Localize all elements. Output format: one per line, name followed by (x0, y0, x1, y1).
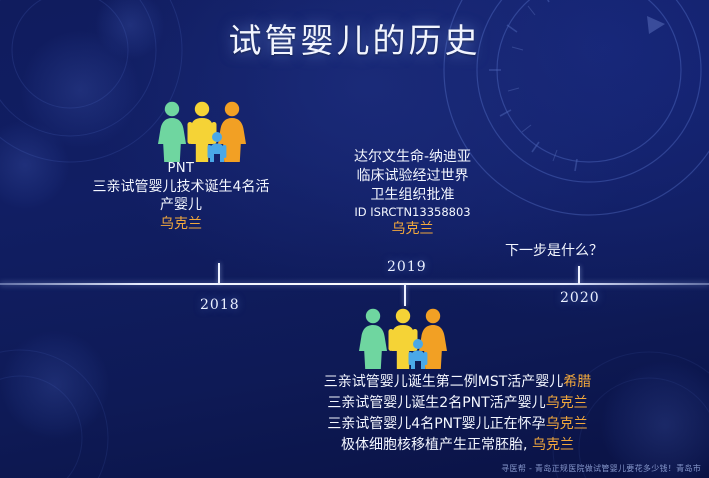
next-step-question: 下一步是什么？ (505, 242, 655, 261)
bottom-row-country: 乌克兰 (546, 416, 588, 432)
timeline-tick-2018 (218, 263, 220, 284)
left-block-country: 乌克兰 (86, 215, 276, 234)
middle-block-line3: 卫生组织批准 (330, 186, 495, 205)
bottom-row-country: 乌克兰 (532, 437, 574, 453)
bottom-row-text: 三亲试管婴儿诞生第二例MST活产婴儿 (324, 374, 564, 390)
family-group-bottom-icon (358, 307, 448, 374)
bottom-row: 三亲试管婴儿诞生第二例MST活产婴儿希腊 (285, 372, 630, 393)
bottom-row-text: 三亲试管婴儿4名PNT婴儿正在怀孕 (327, 416, 545, 432)
middle-block-line2: 临床试验经过世界 (330, 167, 495, 186)
family-group-top-icon (157, 100, 247, 167)
timeline-year-2018: 2018 (200, 297, 240, 313)
left-block-line2: 产婴儿 (86, 196, 276, 215)
middle-block-country: 乌克兰 (330, 220, 495, 239)
text-block-left: PNT 三亲试管婴儿技术诞生4名活 产婴儿 乌克兰 (86, 160, 276, 234)
page-title: 试管婴儿的历史 (0, 14, 709, 62)
decorative-arc-bottom-left (0, 338, 140, 478)
text-block-bottom: 三亲试管婴儿诞生第二例MST活产婴儿希腊 三亲试管婴儿诞生2名PNT活产婴儿乌克… (285, 372, 630, 456)
bokeh-circle (0, 120, 70, 210)
text-block-right: 下一步是什么？ (505, 242, 655, 261)
female-green-icon (359, 309, 387, 369)
bottom-row-text: 三亲试管婴儿诞生2名PNT活产婴儿 (327, 395, 545, 411)
bottom-row: 三亲试管婴儿4名PNT婴儿正在怀孕乌克兰 (285, 414, 630, 435)
middle-block-line1: 达尔文生命-纳迪亚 (330, 148, 495, 167)
female-green-icon (158, 102, 186, 162)
left-block-tag: PNT (86, 160, 276, 178)
bottom-row-text: 极体细胞核移植产生正常胚胎, (341, 437, 532, 453)
timeline-tick-2019 (404, 284, 406, 306)
watermark-text: 寻医帮 - 青岛正规医院做试管婴儿要花多少钱！青岛市 (501, 463, 701, 474)
bottom-row: 三亲试管婴儿诞生2名PNT活产婴儿乌克兰 (285, 393, 630, 414)
bottom-row-country: 乌克兰 (546, 395, 588, 411)
timeline-year-2020: 2020 (560, 290, 600, 306)
left-block-line1: 三亲试管婴儿技术诞生4名活 (86, 178, 276, 197)
text-block-middle: 达尔文生命-纳迪亚 临床试验经过世界 卫生组织批准 ID ISRCTN13358… (330, 148, 495, 239)
bokeh-circle (0, 330, 110, 440)
timeline-year-2019: 2019 (387, 259, 427, 275)
bottom-row: 极体细胞核移植产生正常胚胎, 乌克兰 (285, 435, 630, 456)
middle-block-trial-id: ID ISRCTN13358803 (330, 205, 495, 221)
timeline-tick-2020 (578, 266, 580, 284)
timeline-axis (0, 283, 709, 285)
bottom-row-country: 希腊 (563, 374, 591, 390)
slide-canvas: 试管婴儿的历史 (0, 0, 709, 478)
